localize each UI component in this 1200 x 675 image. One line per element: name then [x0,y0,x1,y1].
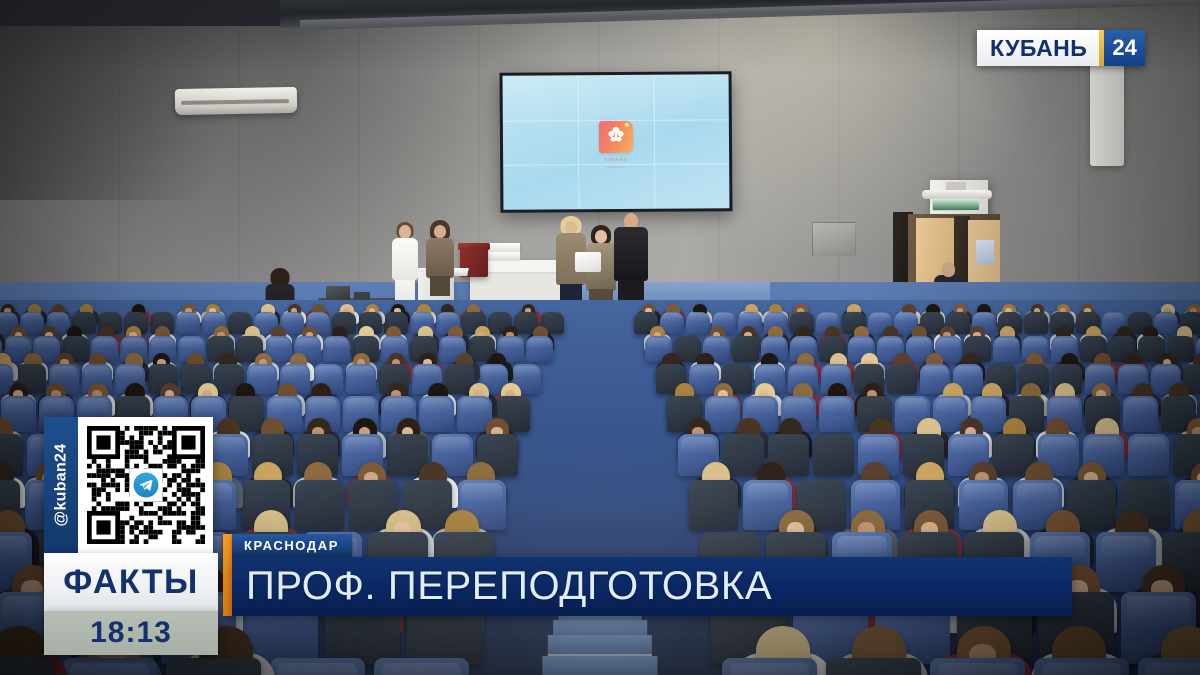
channel-logo-name: КУБАНЬ [977,30,1099,66]
program-name-box: ФАКТЫ [44,553,218,611]
broadcast-screenshot: КУБАНЬ образование [0,0,1200,675]
telegram-icon [133,473,158,498]
book-tree-icon [599,121,633,153]
program-name-text: ФАКТЫ [63,563,198,602]
certificate-document [575,252,601,272]
wall-panel-box [812,222,856,256]
video-wall-subcaption: образование [607,165,625,169]
qr-card[interactable] [78,417,213,553]
stage-person-assistant [424,220,456,292]
video-wall-caption: КУБАНЬ [605,157,628,163]
clock-text: 18:13 [90,616,172,650]
qr-handle-text: @kuban24 [52,444,70,527]
city-tab: КРАСНОДАР [232,534,352,557]
qr-handle-strip: @kuban24 [44,417,78,553]
qr-promo-block[interactable]: @kuban24 [44,417,213,553]
accent-divider [223,534,232,616]
exit-sign [932,198,980,211]
headline-text: ПРОФ. ПЕРЕПОДГОТОВКА [246,564,772,609]
certificate-stack-bottom [486,252,520,261]
clock-box: 18:13 [44,611,218,655]
channel-logo: КУБАНЬ 24 [977,30,1145,66]
air-conditioner-left [175,87,297,115]
ceiling-dark-area [0,0,300,26]
video-wall: КУБАНЬ образование [500,71,733,213]
qr-code[interactable] [87,426,205,544]
city-tab-text: КРАСНОДАР [244,538,339,553]
video-wall-screen: КУБАНЬ образование [503,74,730,210]
corridor-poster [976,240,994,264]
headline-bar: ПРОФ. ПЕРЕПОДГОТОВКА [232,557,1072,616]
doorway-person-head [942,262,955,277]
channel-logo-number: 24 [1104,30,1144,66]
